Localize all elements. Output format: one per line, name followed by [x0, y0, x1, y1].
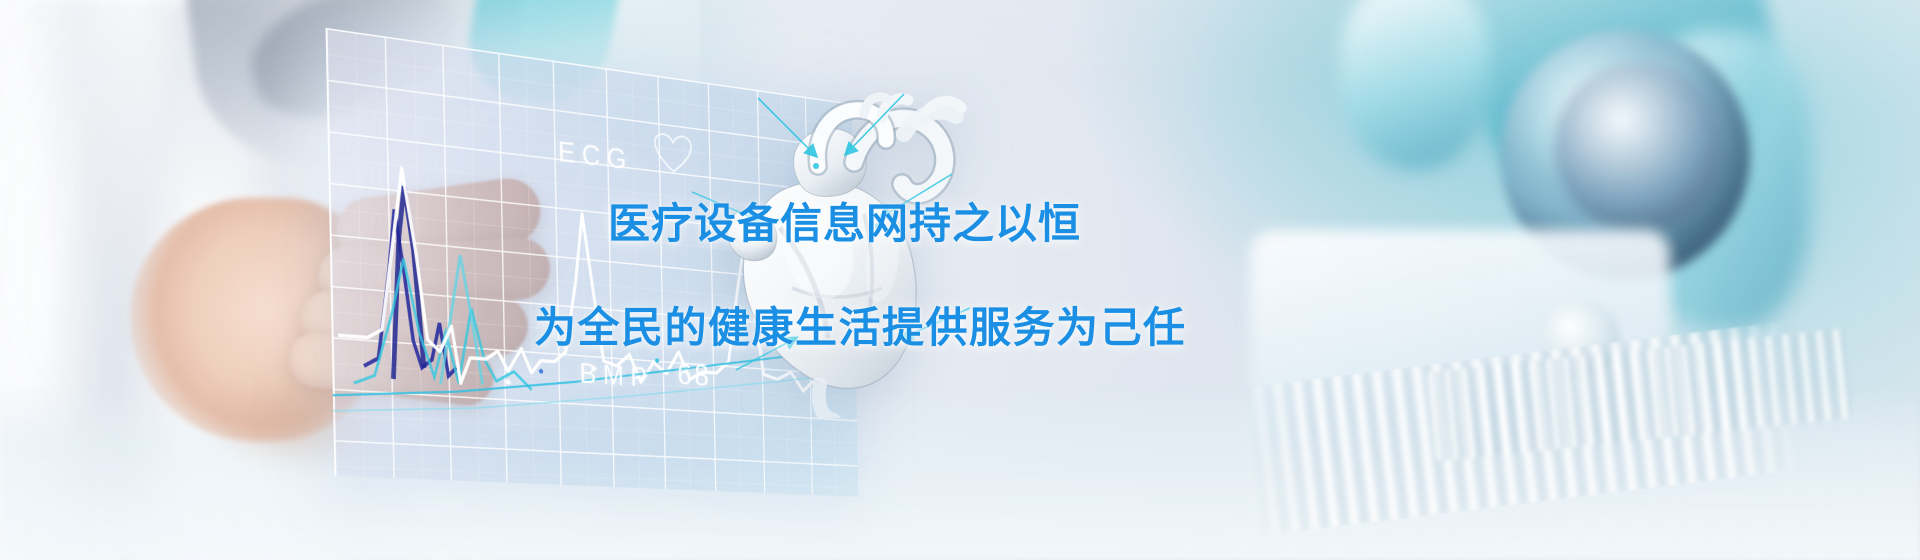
microscope-lens-inner [1554, 62, 1724, 232]
headline-line-2: 为全民的健康生活提供服务为己任 [534, 300, 1508, 356]
microscope-eyepiece [1340, 0, 1490, 170]
headline-block: 医疗设备信息网持之以恒 为全民的健康生活提供服务为己任 [608, 196, 1508, 357]
headline-line-1: 医疗设备信息网持之以恒 [608, 196, 1508, 252]
medical-banner: ECG BMP 68 S.C [0, 0, 1920, 560]
